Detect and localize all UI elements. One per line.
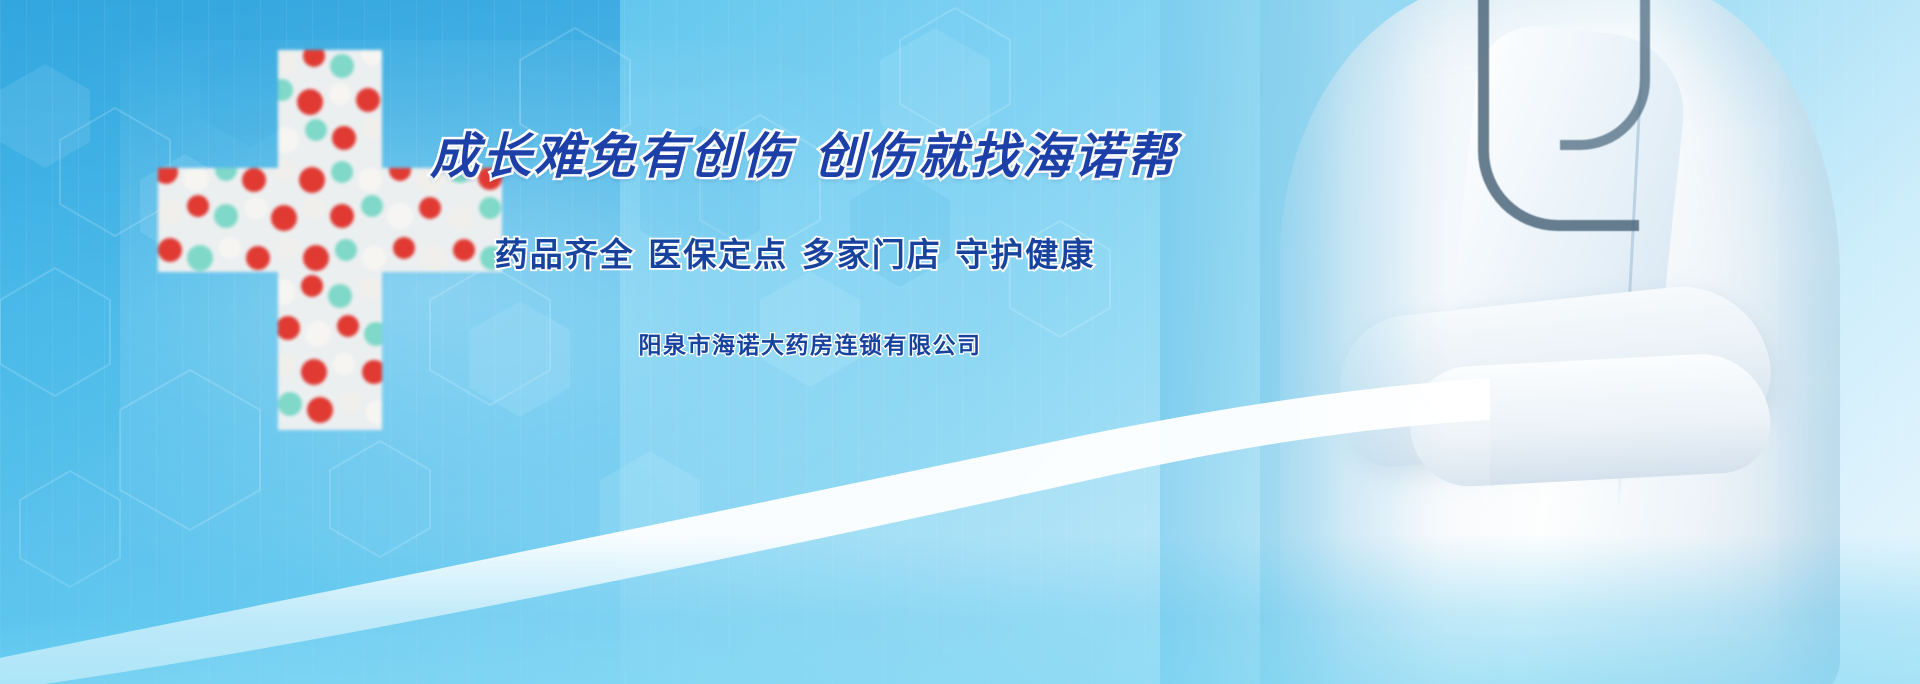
banner-text-block: 成长难免有创伤 创伤就找海诺帮 药品齐全 医保定点 多家门店 守护健康 阳泉市海… — [430, 130, 1160, 360]
pharmacy-promo-banner: 成长难免有创伤 创伤就找海诺帮 药品齐全 医保定点 多家门店 守护健康 阳泉市海… — [0, 0, 1920, 684]
photo-edge-fade — [1160, 0, 1420, 684]
company-name: 阳泉市海诺大药房连锁有限公司 — [430, 326, 1160, 360]
banner-headline: 成长难免有创伤 创伤就找海诺帮 — [430, 130, 1160, 184]
photo-left-shadow — [1260, 0, 1450, 684]
photo-coat-lapel — [1439, 20, 1692, 460]
pharmacist-photo — [1160, 0, 1920, 684]
photo-neck — [1490, 0, 1660, 100]
photo-crossed-arms-lower — [1407, 351, 1773, 490]
banner-subheadline: 药品齐全 医保定点 多家门店 守护健康 — [430, 228, 1160, 276]
photo-lab-coat — [1280, 0, 1840, 684]
photo-coat-seam — [1617, 10, 1646, 509]
stethoscope-secondary-icon — [1560, 0, 1650, 150]
photo-crossed-arms — [1333, 278, 1776, 472]
stethoscope-icon — [1478, 0, 1639, 231]
bottom-fade-overlay — [0, 534, 1920, 684]
